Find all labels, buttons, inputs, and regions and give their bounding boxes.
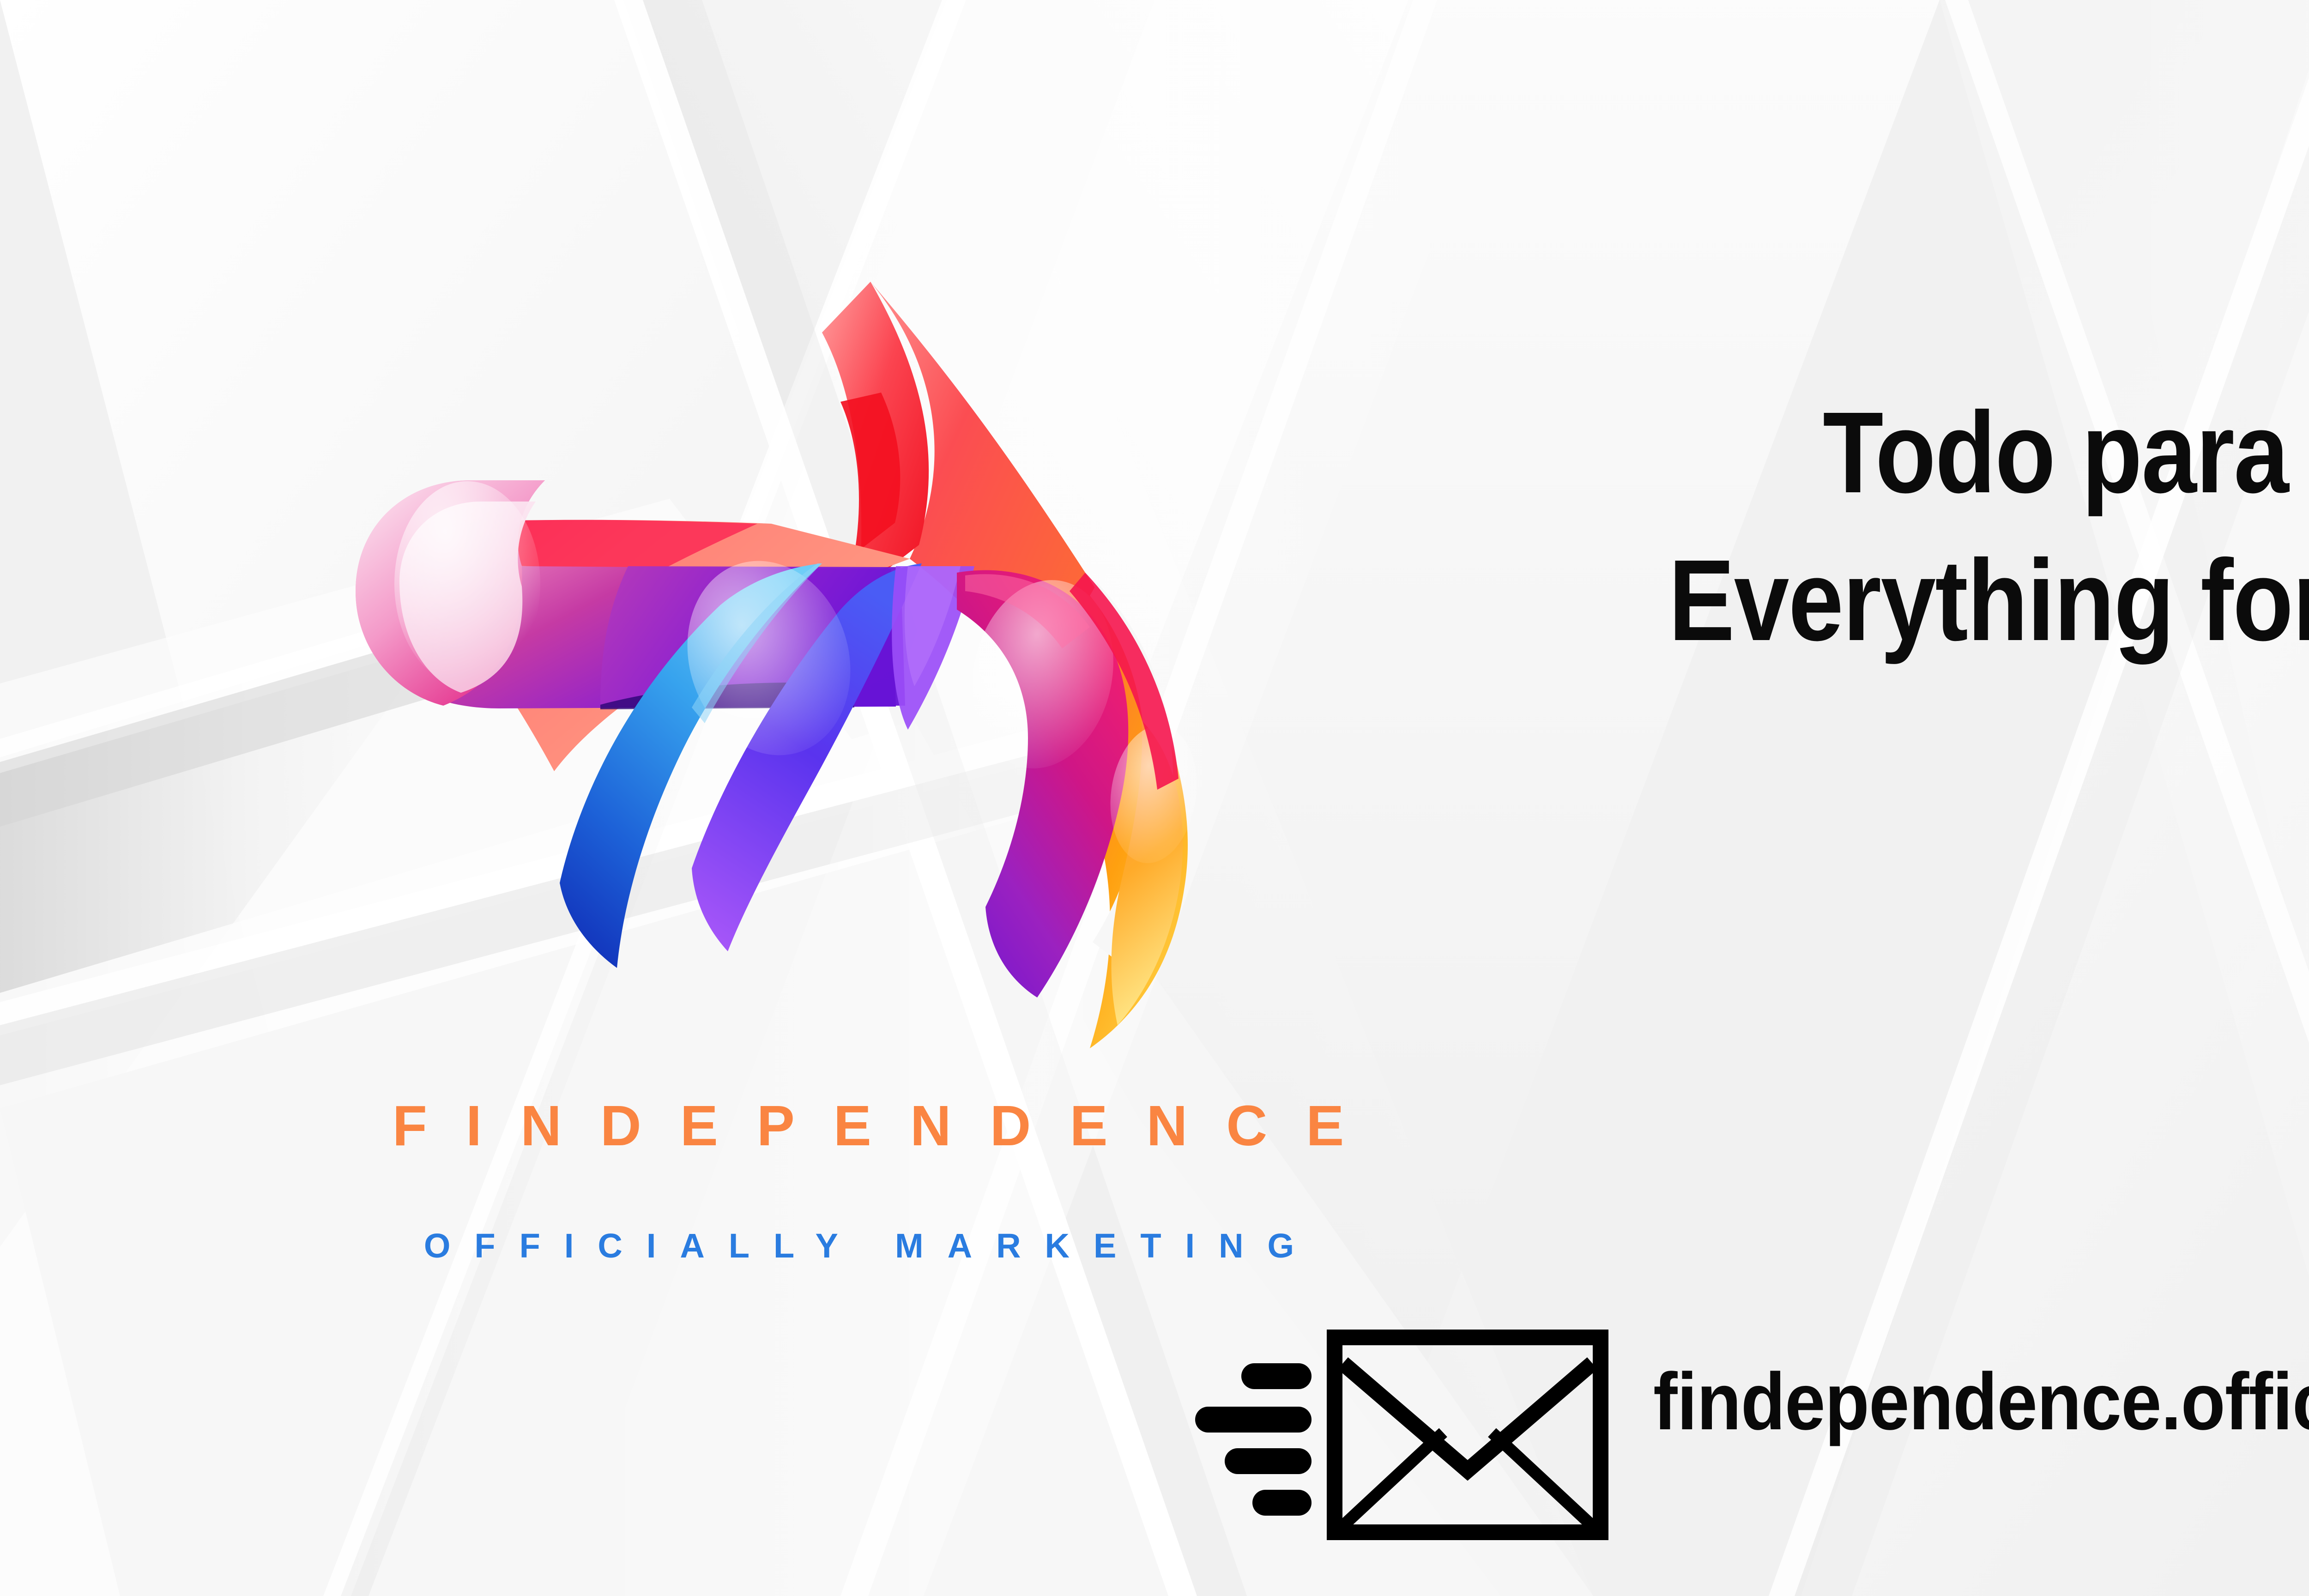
speed-line-3 [1225,1448,1312,1474]
speed-line-1 [1241,1363,1312,1389]
email-address[interactable]: findependence.office@gmail.com [1653,1355,2309,1448]
headline-block: Todo para tu empresa Everything for your… [1668,379,2309,674]
banner-canvas: Todo para tu empresa Everything for your… [0,0,2309,1596]
logo-wordmark: FINDEPENDENCE [249,1094,1487,1159]
speed-line-4 [1252,1490,1312,1516]
envelope-speed-icon [1182,1321,1649,1547]
logo-tagline: OFFICIALLY MARKETING [323,1226,1395,1265]
headline-line-english: Everything for your company [1668,526,2309,674]
headline-line-spanish: Todo para tu empresa [1668,379,2309,526]
speed-line-2 [1195,1407,1312,1433]
envelope-flap [1343,1363,1592,1470]
findependence-fox-mark [305,240,1367,1085]
